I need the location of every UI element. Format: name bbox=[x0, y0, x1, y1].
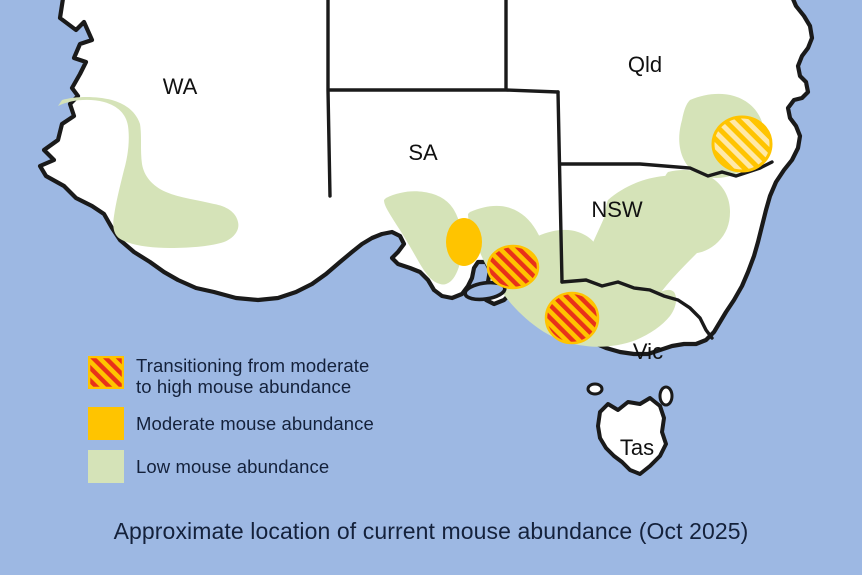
mouse-abundance-legend: Transitioning from moderate to high mous… bbox=[88, 356, 428, 483]
state-label-wa: WA bbox=[163, 74, 198, 99]
solid-amber-swatch-icon bbox=[88, 407, 124, 440]
state-label-vic: Vic bbox=[633, 339, 663, 364]
state-label-qld: Qld bbox=[628, 52, 662, 77]
sa-vic-transitioning-marker bbox=[488, 246, 538, 288]
qld-transitioning-marker bbox=[713, 117, 771, 171]
hatched-orange-red-swatch-icon bbox=[88, 356, 124, 389]
state-label-tas: Tas bbox=[620, 435, 654, 460]
state-label-sa: SA bbox=[408, 140, 438, 165]
legend-item-transitioning: Transitioning from moderate to high mous… bbox=[88, 356, 428, 397]
legend-label-transitioning: Transitioning from moderate to high mous… bbox=[136, 356, 369, 397]
island-flinders bbox=[660, 387, 672, 405]
legend-item-low: Low mouse abundance bbox=[88, 450, 428, 483]
island-king bbox=[588, 384, 602, 394]
mouse-abundance-map-figure: WA Qld SA NSW Vic Tas Tran bbox=[0, 0, 862, 575]
legend-label-moderate: Moderate mouse abundance bbox=[136, 413, 374, 435]
legend-item-moderate: Moderate mouse abundance bbox=[88, 407, 428, 440]
vic-transitioning-marker bbox=[546, 293, 598, 343]
sa-moderate-marker bbox=[446, 218, 482, 266]
australia-map: WA Qld SA NSW Vic Tas bbox=[0, 0, 862, 575]
solid-sage-swatch-icon bbox=[88, 450, 124, 483]
state-label-nsw: NSW bbox=[591, 197, 643, 222]
map-caption: Approximate location of current mouse ab… bbox=[0, 518, 862, 545]
border-wa-east bbox=[328, 0, 330, 196]
border-nt-sa bbox=[330, 90, 558, 92]
legend-label-low: Low mouse abundance bbox=[136, 456, 329, 478]
